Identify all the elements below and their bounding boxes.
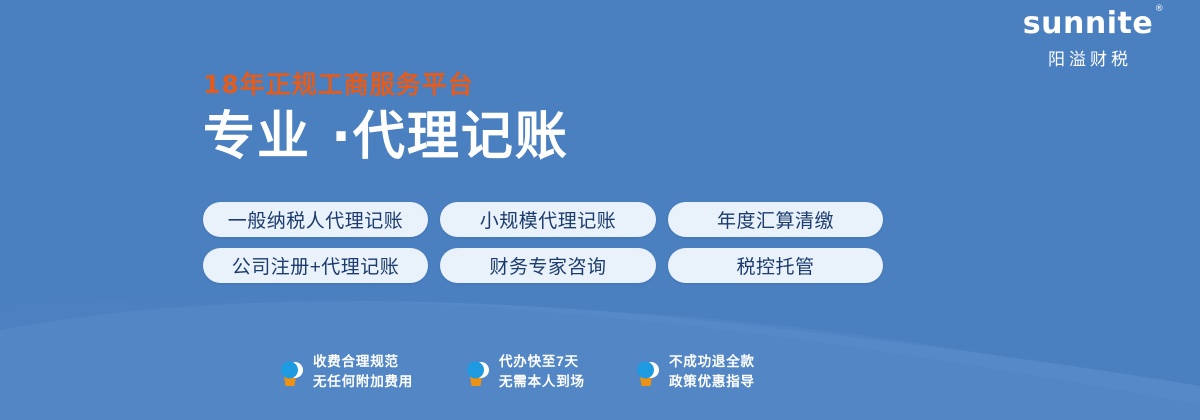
feature-line-2: 政策优惠指导: [669, 372, 755, 392]
feature-line-2: 无需本人到场: [499, 372, 585, 392]
feature-line-2: 无任何附加费用: [313, 372, 413, 392]
feature-line-1: 不成功退全款: [669, 354, 755, 369]
service-pill-small-scale[interactable]: 小规模代理记账: [440, 202, 656, 237]
feature-item-pricing: 收费合理规范 无任何附加费用: [276, 352, 462, 391]
feature-item-speed: 代办快至7天 无需本人到场: [462, 352, 632, 391]
service-pill-general-taxpayer[interactable]: 一般纳税人代理记账: [203, 202, 428, 237]
service-pill-expert-consulting[interactable]: 财务专家咨询: [440, 248, 656, 283]
moon-coin-icon: [276, 356, 304, 388]
feature-text: 收费合理规范 无任何附加费用: [313, 352, 413, 391]
headline-group: 18年正规工商服务平台 专业 ·代理记账: [203, 72, 569, 165]
service-pill-row: 公司注册+代理记账 财务专家咨询 税控托管: [203, 248, 883, 283]
eyebrow-tagline: 18年正规工商服务平台: [203, 72, 569, 97]
service-pill-annual-settlement[interactable]: 年度汇算清缴: [668, 202, 883, 237]
service-pill-company-registration[interactable]: 公司注册+代理记账: [203, 248, 428, 283]
logo-wordmark-text: sunnite: [1023, 6, 1153, 41]
service-pill-row: 一般纳税人代理记账 小规模代理记账 年度汇算清缴: [203, 202, 883, 237]
service-pill-grid: 一般纳税人代理记账 小规模代理记账 年度汇算清缴 公司注册+代理记账 财务专家咨…: [203, 202, 883, 283]
service-pill-tax-control-hosting[interactable]: 税控托管: [668, 248, 883, 283]
logo-chinese-name: 阳溢财税: [998, 45, 1178, 70]
moon-coin-icon: [462, 356, 490, 388]
logo-wordmark: sunnite®: [1023, 8, 1153, 40]
feature-item-guarantee: 不成功退全款 政策优惠指导: [632, 352, 822, 391]
feature-line-1: 收费合理规范: [313, 354, 399, 369]
moon-coin-icon: [632, 356, 660, 388]
promo-banner: sunnite® 阳溢财税 18年正规工商服务平台 专业 ·代理记账 一般纳税人…: [0, 0, 1200, 420]
registered-trademark-icon: ®: [1155, 5, 1165, 14]
feature-line-1: 代办快至7天: [499, 354, 579, 369]
feature-strip: 收费合理规范 无任何附加费用 代办快至7天 无需本人到场: [276, 352, 822, 391]
brand-logo[interactable]: sunnite® 阳溢财税: [998, 8, 1178, 70]
page-title: 专业 ·代理记账: [203, 110, 569, 165]
feature-text: 代办快至7天 无需本人到场: [499, 352, 585, 391]
feature-text: 不成功退全款 政策优惠指导: [669, 352, 755, 391]
